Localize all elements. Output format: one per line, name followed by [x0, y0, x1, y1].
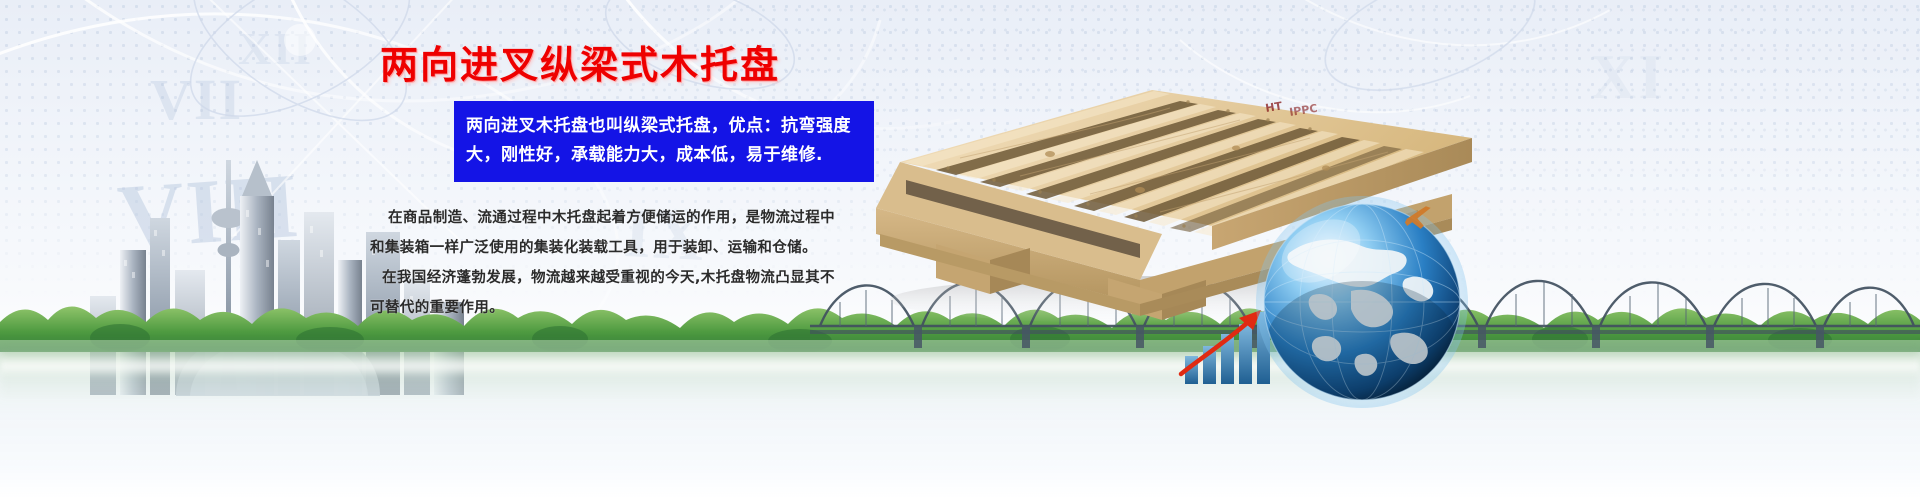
- body-line-3: 在我国经济蓬勃发展，物流越来越受重视的今天,木托盘物流凸显其不: [370, 264, 965, 294]
- body-paragraph: 在商品制造、流通过程中木托盘起着方便储运的作用，是物流过程中 和集装箱一样广泛使…: [370, 204, 965, 323]
- promo-banner: VIII VII XII IX XI: [0, 0, 1920, 500]
- highlight-line-1: 两向进叉木托盘也叫纵梁式托盘，优点：抗弯强度: [466, 112, 862, 141]
- body-line-1: 在商品制造、流通过程中木托盘起着方便储运的作用，是物流过程中: [370, 204, 965, 234]
- banner-copy-block: 两向进叉纵梁式木托盘 两向进叉木托盘也叫纵梁式托盘，优点：抗弯强度 大，刚性好，…: [370, 46, 990, 323]
- blue-earth-globe: [1255, 195, 1470, 410]
- highlight-line-2: 大，刚性好，承载能力大，成本低，易于维修.: [466, 141, 862, 170]
- body-line-2: 和集装箱一样广泛使用的集装化装载工具，用于装卸、运输和仓储。: [370, 234, 965, 264]
- highlight-callout-box: 两向进叉木托盘也叫纵梁式托盘，优点：抗弯强度 大，刚性好，承载能力大，成本低，易…: [454, 101, 874, 182]
- pallet-stamp-label: HT: [1264, 99, 1283, 115]
- body-line-4: 可替代的重要作用。: [370, 294, 965, 324]
- page-title: 两向进叉纵梁式木托盘: [380, 46, 990, 84]
